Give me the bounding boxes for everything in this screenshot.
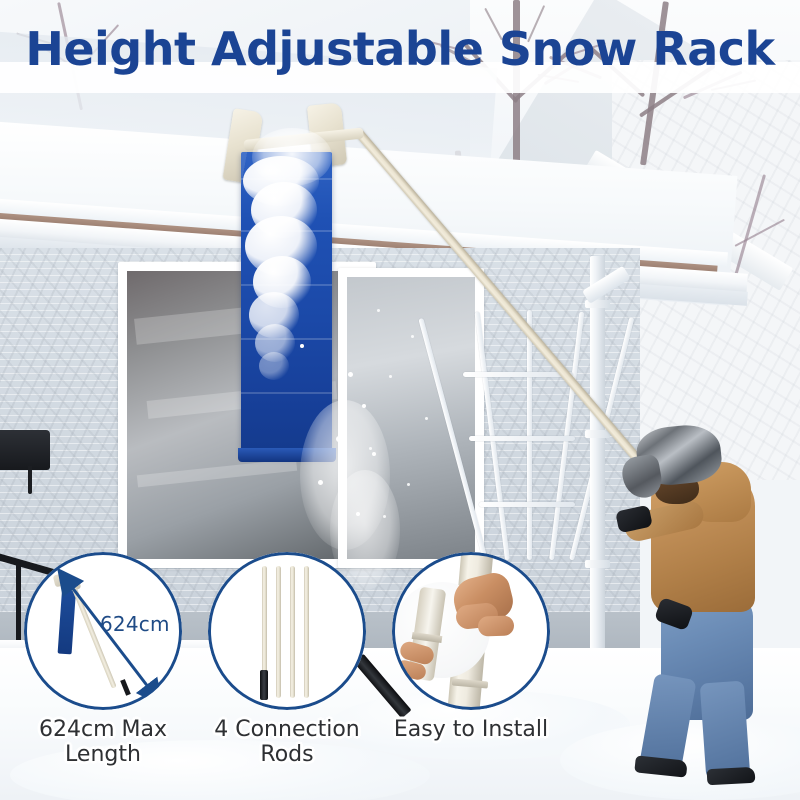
snow-fleck — [318, 480, 323, 485]
hand-finger-icon — [478, 615, 515, 636]
connection-rod-icon — [290, 566, 295, 698]
feature-caption-line1: 4 Connection — [196, 718, 378, 743]
snow-fleck — [362, 404, 366, 408]
page-title: Height Adjustable Snow Rack — [0, 26, 800, 72]
snow-fleck — [356, 512, 360, 516]
feature-caption: 624cm Max Length — [12, 718, 194, 767]
feature-caption-line1: Easy to Install — [380, 718, 562, 743]
mailbox-hook — [28, 466, 32, 494]
feature-callouts: 624cm 624cm Max Length 4 Connection Rods — [0, 552, 800, 800]
snow-fleck — [348, 372, 353, 377]
feature-icon-bubble — [208, 552, 366, 710]
feature-max-length: 624cm 624cm Max Length — [12, 552, 194, 767]
feature-caption: Easy to Install — [380, 718, 562, 743]
snow-slide-chute — [241, 152, 332, 457]
feature-caption-line2: Length — [12, 743, 194, 768]
rod-grip-icon — [260, 670, 268, 700]
product-marketing-image: Height Adjustable Snow Rack — [0, 0, 800, 800]
bubble-ring — [208, 552, 366, 710]
snow-fleck — [372, 452, 376, 456]
feature-connection-rods: 4 Connection Rods — [196, 552, 378, 767]
snow-spray — [252, 128, 332, 186]
feature-caption: 4 Connection Rods — [196, 718, 378, 767]
connection-rod-icon — [304, 566, 309, 698]
snow-fleck — [300, 344, 304, 348]
feature-caption-line1: 624cm Max — [12, 718, 194, 743]
feature-caption-line2: Rods — [196, 743, 378, 768]
feature-easy-install: Easy to Install — [380, 552, 562, 743]
mailbox-icon — [0, 430, 50, 470]
wall-trellis — [455, 310, 605, 570]
feature-icon-bubble — [392, 552, 550, 710]
max-length-value: 624cm — [100, 612, 170, 636]
connection-rod-icon — [276, 566, 281, 698]
snow-fleck — [336, 436, 342, 442]
feature-icon-bubble: 624cm — [24, 552, 182, 710]
